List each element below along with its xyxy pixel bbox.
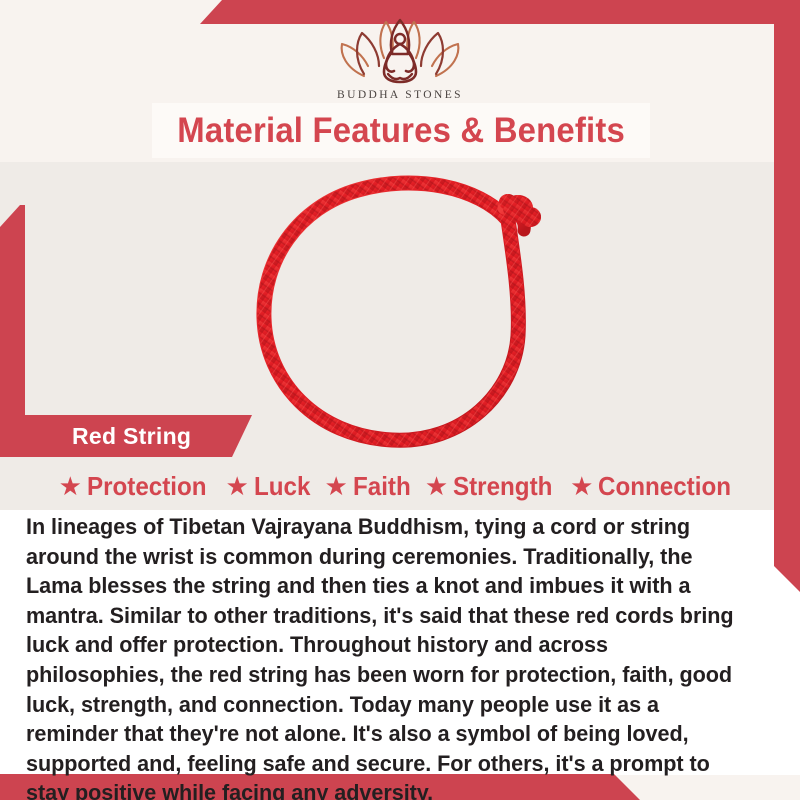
star-icon: ★ [324, 473, 347, 499]
brand-name: BUDDHA STONES [337, 89, 463, 101]
material-name: Red String [72, 423, 191, 450]
benefit-item: ★ Faith [324, 471, 414, 502]
star-icon: ★ [570, 473, 593, 499]
benefit-label: Protection [87, 471, 207, 502]
material-banner: Red String [0, 415, 252, 457]
benefit-label: Faith [353, 471, 411, 502]
benefit-label: Strength [453, 471, 552, 502]
title-card: Material Features & Benefits [152, 103, 650, 158]
benefits-list: ★ Protection ★ Luck ★ Faith ★ Strength ★… [0, 464, 800, 508]
star-icon: ★ [59, 473, 82, 499]
benefit-item: ★ Protection [59, 471, 216, 502]
benefit-item: ★ Strength [425, 471, 560, 502]
material-description: In lineages of Tibetan Vajrayana Buddhis… [26, 512, 748, 800]
benefit-item: ★ Luck [225, 471, 314, 502]
lotus-meditation-icon [334, 14, 466, 86]
benefit-item: ★ Connection [570, 471, 741, 502]
benefit-label: Luck [254, 471, 310, 502]
brand-logo: BUDDHA STONES [0, 14, 800, 101]
star-icon: ★ [425, 473, 448, 499]
star-icon: ★ [225, 473, 248, 499]
product-image-red-string-bracelet [246, 168, 568, 450]
product-infographic: BUDDHA STONES Material Features & Benefi… [0, 0, 800, 800]
benefit-label: Connection [598, 471, 731, 502]
page-title: Material Features & Benefits [177, 111, 625, 151]
